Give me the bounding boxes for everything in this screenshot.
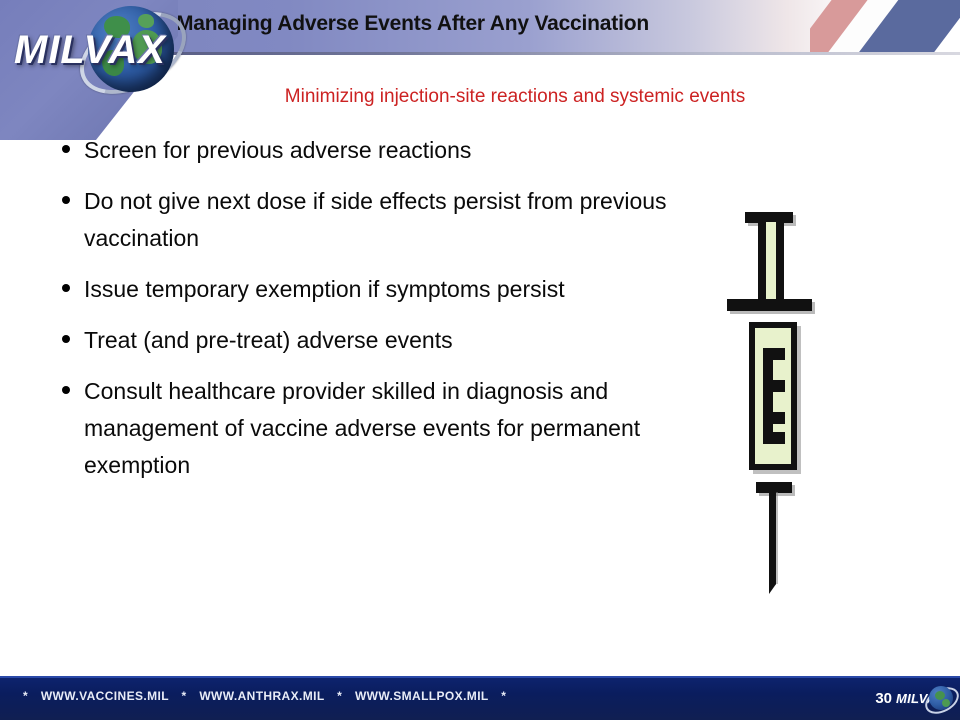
bullet-dot-icon <box>62 335 70 343</box>
footer-separator: * <box>337 689 342 703</box>
milvax-logo: MILVAX <box>0 0 178 140</box>
logo-wordmark: MILVAX <box>14 28 166 73</box>
list-item-text: Treat (and pre-treat) adverse events <box>84 327 453 353</box>
footer-separator: * <box>501 689 506 703</box>
footer-links: * WWW.VACCINES.MIL * WWW.ANTHRAX.MIL * W… <box>14 689 515 703</box>
syringe-graduation-spine <box>763 348 773 444</box>
footer-bar: * WWW.VACCINES.MIL * WWW.ANTHRAX.MIL * W… <box>0 676 960 720</box>
syringe-graduation-mark <box>763 380 785 392</box>
footer-top-line <box>0 676 960 678</box>
syringe-plunger-shaft-right <box>776 222 784 302</box>
list-item-text: Issue temporary exemption if symptoms pe… <box>84 276 565 302</box>
slide-subtitle: Minimizing injection-site reactions and … <box>0 86 960 108</box>
bullet-dot-icon <box>62 145 70 153</box>
footer-milvax-logo: MILVAX <box>896 684 954 714</box>
slide: Managing Adverse Events After Any Vaccin… <box>0 0 960 720</box>
bullet-dot-icon <box>62 284 70 292</box>
footer-separator: * <box>182 689 187 703</box>
syringe-graduation-mark <box>763 348 785 360</box>
syringe-plunger-shaft-core <box>766 222 776 302</box>
bullet-dot-icon <box>62 386 70 394</box>
bullet-list: Screen for previous adverse reactions Do… <box>58 132 678 498</box>
list-item-text: Do not give next dose if side effects pe… <box>84 188 667 251</box>
syringe-graduation-mark <box>763 432 785 444</box>
footer-link-anthrax[interactable]: WWW.ANTHRAX.MIL <box>199 689 324 703</box>
page-title: Managing Adverse Events After Any Vaccin… <box>176 12 876 36</box>
list-item: Do not give next dose if side effects pe… <box>58 183 678 257</box>
footer-globe-icon <box>929 686 953 710</box>
syringe-plunger-shaft-left <box>758 222 766 302</box>
list-item: Issue temporary exemption if symptoms pe… <box>58 271 678 308</box>
list-item: Consult healthcare provider skilled in d… <box>58 373 678 484</box>
syringe-icon <box>700 200 870 600</box>
list-item-text: Screen for previous adverse reactions <box>84 137 471 163</box>
list-item: Treat (and pre-treat) adverse events <box>58 322 678 359</box>
footer-separator: * <box>23 689 28 703</box>
footer-link-smallpox[interactable]: WWW.SMALLPOX.MIL <box>355 689 489 703</box>
page-number: 30 <box>875 690 892 707</box>
syringe-graduation-mark <box>763 412 785 424</box>
bullet-dot-icon <box>62 196 70 204</box>
list-item: Screen for previous adverse reactions <box>58 132 678 169</box>
footer-globe-landmass <box>942 699 950 707</box>
syringe-needle <box>769 492 776 584</box>
footer-link-vaccines[interactable]: WWW.VACCINES.MIL <box>41 689 169 703</box>
list-item-text: Consult healthcare provider skilled in d… <box>84 378 640 478</box>
syringe-needle-bevel-tip <box>769 572 776 594</box>
syringe-finger-flange <box>727 299 812 311</box>
globe-landmass <box>138 14 154 28</box>
